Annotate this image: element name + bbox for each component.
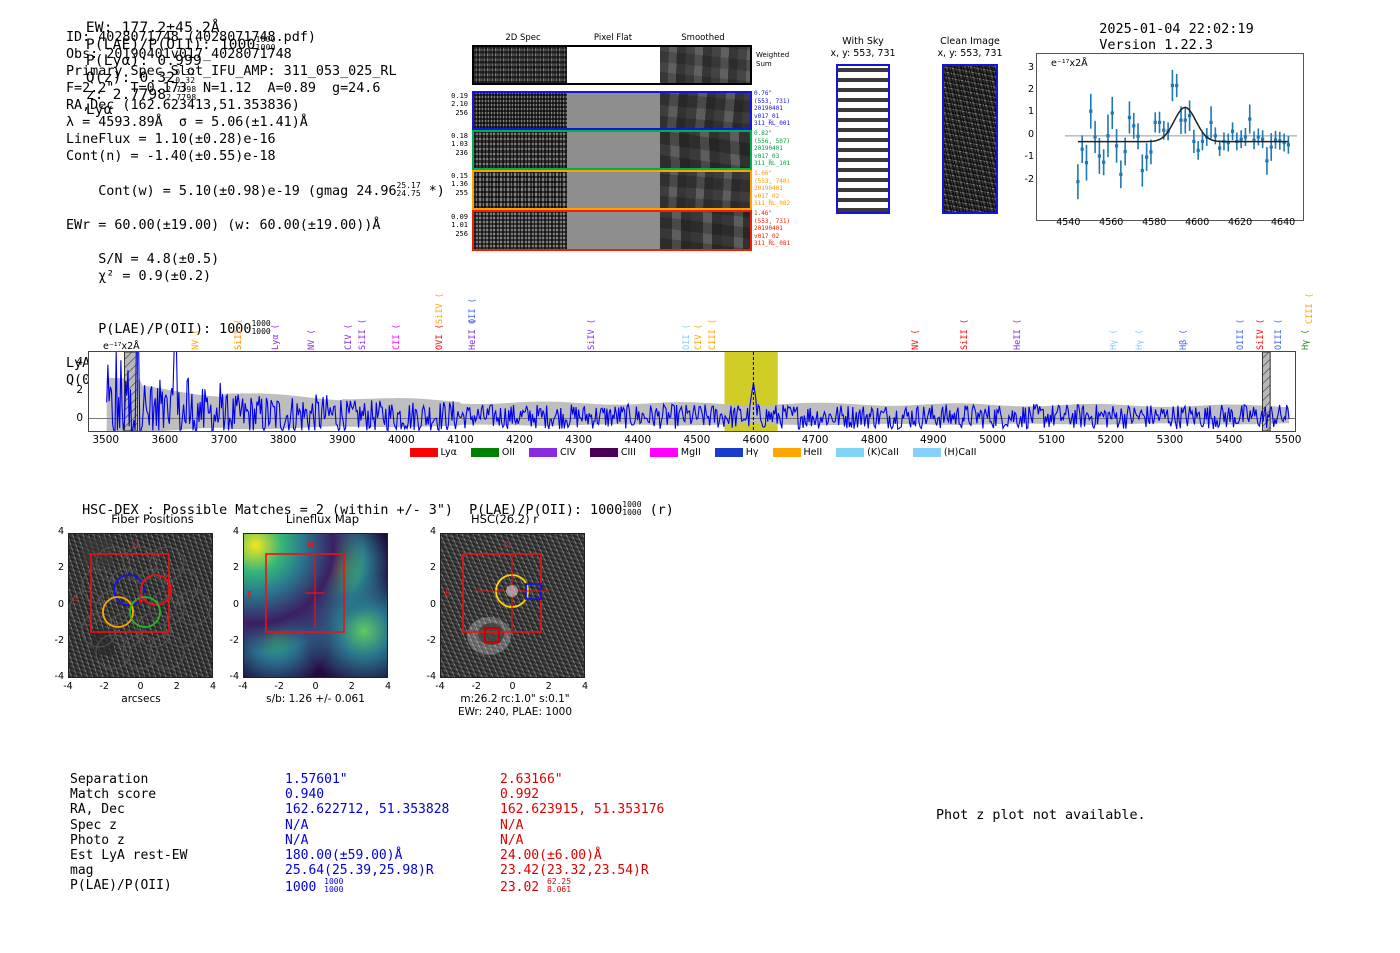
panel-ytick: -4: [42, 671, 64, 682]
panel-xtick: -4: [426, 681, 454, 692]
legend-label: OII: [502, 447, 515, 458]
match-row-label: Est LyA rest-EW: [70, 848, 280, 863]
spectrum-xtick: 4100: [436, 434, 484, 446]
cont-w-text: Cont(w) = 5.10(±0.98)e-19 (gmag 24.96: [98, 184, 396, 199]
panel-xtick: -2: [462, 681, 490, 692]
legend-swatch: [913, 448, 941, 457]
emission-line-label: SiIV (: [435, 278, 445, 324]
spec2d-row-meta: 0.82"(556, 507)20190401v017_03311_RL_101: [754, 130, 800, 168]
panel-ytick: 4: [42, 526, 64, 537]
legend-label: (K)CaII: [867, 447, 899, 458]
emission-line-label: CIII (: [708, 304, 718, 350]
fit-ytick: 0: [1014, 129, 1034, 140]
legend-swatch: [715, 448, 743, 457]
emission-line-label: SiIV (: [1256, 304, 1266, 350]
match2-value: 23.02 62.258.061: [500, 878, 730, 895]
match1-value: 162.622712, 51.353828: [285, 802, 500, 817]
lineflux-map-panel: Lineflux Map: [230, 512, 415, 526]
panel-xtick: -2: [90, 681, 118, 692]
spectrum-xtick: 3900: [318, 434, 366, 446]
spec2d-row-left-values: 0.181.03236: [446, 132, 468, 157]
panel-ytick: -2: [414, 635, 436, 646]
svg-text:E: E: [247, 591, 253, 601]
svg-text:N: N: [132, 541, 139, 551]
hsc-headline-band: (r): [650, 503, 674, 518]
emission-line-label: NV (: [911, 304, 921, 350]
emission-line-label: Hβ (: [1179, 304, 1189, 350]
fit-ytick: 3: [1014, 62, 1034, 73]
legend-label: Hγ: [746, 447, 759, 458]
panel-xtick: 2: [338, 681, 366, 692]
panel-xtick: 2: [535, 681, 563, 692]
spectrum-xtick: 5000: [969, 434, 1017, 446]
info-line: Cont(n) = -1.40(±0.55)e-18: [66, 148, 445, 165]
hsc-plae-frac: 10001000: [622, 501, 641, 517]
panel-xtick: 4: [374, 681, 402, 692]
legend-swatch: [836, 448, 864, 457]
emission-line-label: Hγ (: [1135, 304, 1145, 350]
fit-xtick: 4580: [1136, 217, 1172, 228]
hsc-r-title: HSC(26.2) r: [412, 512, 597, 526]
match1-value: 1000 10001000: [285, 878, 500, 895]
panel-ytick: 2: [217, 562, 239, 573]
emission-line-label: NV (: [307, 304, 317, 350]
with-sky-coords: x, y: 553, 731: [820, 48, 906, 60]
spec2d-col-title: 2D Spec: [482, 33, 564, 43]
panel-ytick: 2: [414, 562, 436, 573]
legend-swatch: [650, 448, 678, 457]
fit-xtick: 4600: [1179, 217, 1215, 228]
spec2d-fiber-row: [472, 170, 752, 210]
spectrum-ytick: 4: [63, 356, 83, 368]
panel-xtick: 2: [163, 681, 191, 692]
lineflux-map-caption: s/b: 1.26 +/- 0.061: [228, 693, 403, 706]
panel-xtick: -4: [229, 681, 257, 692]
spec2d-row-meta: 1.46"(553, 731)20190401v017_02311_RL_081: [754, 210, 800, 248]
hsc-r-caption-2: EWr: 240, PLAE: 1000: [425, 706, 605, 719]
emission-line-label: SiIV (: [587, 304, 597, 350]
spec2d-row-left-values: 0.192.10256: [446, 92, 468, 117]
spectrum-xtick: 4800: [850, 434, 898, 446]
spectrum-xtick: 3600: [141, 434, 189, 446]
emission-line-fit-plot: [1036, 53, 1304, 221]
spectrum-xtick: 5500: [1264, 434, 1312, 446]
legend-label: (H)CaII: [944, 447, 977, 458]
fit-xtick: 4640: [1265, 217, 1301, 228]
match2-value: N/A: [500, 818, 730, 833]
emission-line-label: CII (: [392, 304, 402, 350]
info-line: RA,Dec (162.623413,51.353836): [66, 97, 445, 114]
panel-ytick: 0: [42, 599, 64, 610]
info-cont-w: Cont(w) = 5.10(±0.98)e-19 (gmag 24.9625.…: [66, 165, 445, 217]
panel-ytick: -2: [42, 635, 64, 646]
spectrum-xtick: 4400: [614, 434, 662, 446]
emission-line-label: CIII (: [1305, 278, 1315, 324]
info-ewr: EWr = 60.00(±19.00) (w: 60.00(±19.00))Å: [66, 217, 445, 234]
legend-swatch: [529, 448, 557, 457]
panel-ytick: -2: [217, 635, 239, 646]
emission-line-label: SiII (: [358, 304, 368, 350]
spec2d-fiber-row: [472, 210, 752, 251]
spectrum-ytick: 2: [63, 384, 83, 396]
emission-line-label: NV (: [191, 304, 201, 350]
panel-ytick: 4: [414, 526, 436, 537]
match2-plae-frac: 62.258.061: [547, 878, 571, 894]
fit-plot-yaxis: -2-10123: [1012, 53, 1036, 221]
panel-ytick: 2: [42, 562, 64, 573]
info-line: λ = 4593.89Å σ = 5.06(±1.41)Å: [66, 114, 445, 131]
spectrum-xtick: 5100: [1028, 434, 1076, 446]
match1-value: 1.57601": [285, 772, 500, 787]
hsc-r-overlay: N E: [441, 534, 584, 677]
match2-value: 24.00(±6.00)Å: [500, 848, 730, 863]
panel-ytick: 0: [217, 599, 239, 610]
svg-text:N: N: [504, 541, 511, 551]
legend-swatch: [590, 448, 618, 457]
hsc-r-caption-1: m:26.2 rc:1.0" s:0.1": [425, 693, 605, 706]
spectrum-xtick: 3800: [259, 434, 307, 446]
with-sky-title: With Sky: [820, 36, 906, 48]
timestamp: 2025-01-04 22:02:19: [1099, 21, 1253, 37]
info-line: ID: 4028071748 (4028071748.pdf): [66, 29, 445, 46]
legend-label: Lyα: [441, 447, 457, 458]
match1-value: N/A: [285, 818, 500, 833]
emission-line-label: SiII (: [960, 304, 970, 350]
panel-xtick: 4: [571, 681, 599, 692]
match2-value: 162.623915, 51.353176: [500, 802, 730, 817]
lineflux-overlay: N E: [244, 534, 387, 677]
spectrum-xtick: 5300: [1146, 434, 1194, 446]
match2-value: 2.63166": [500, 772, 730, 787]
info-line: F=2.2" T=0.173 N=1.12 A=0.89 g=24.6: [66, 80, 445, 97]
with-sky-image: [836, 64, 890, 214]
fiber-positions-panel: Fiber Positions: [60, 512, 245, 526]
hsc-r-panel: HSC(26.2) r: [412, 512, 597, 526]
legend-label: CIV: [560, 447, 576, 458]
fiber-overlay: N E: [69, 534, 212, 677]
spec2d-fiber-row: [472, 91, 752, 130]
fit-ytick: 1: [1014, 106, 1034, 117]
panel-xtick: 0: [127, 681, 155, 692]
match1-value: N/A: [285, 833, 500, 848]
spec2d-col-title: Smoothed: [662, 33, 744, 43]
match-row-label: Spec z: [70, 818, 280, 833]
spectrum-xtick: 4000: [377, 434, 425, 446]
clean-image-title: Clean Image: [920, 36, 1020, 48]
fit-xtick: 4540: [1050, 217, 1086, 228]
info-line: LineFlux = 1.10(±0.28)e-16: [66, 131, 445, 148]
clean-image-image: [942, 64, 998, 214]
match1-plae-frac: 10001000: [324, 878, 343, 894]
spectrum-legend: LyαOIICIVCIIIMgIIHγHeII(K)CaII(H)CaII: [0, 447, 1400, 458]
spectrum-xtick: 4600: [732, 434, 780, 446]
fit-xtick: 4560: [1093, 217, 1129, 228]
svg-text:E: E: [72, 597, 78, 607]
legend-swatch: [410, 448, 438, 457]
svg-text:N: N: [307, 541, 314, 551]
full-spectrum-plot: [88, 351, 1296, 432]
spectrum-svg: [89, 352, 1295, 431]
spec2d-row-meta: 0.76"(553, 731)20190401v017_01311_RL_001: [754, 90, 800, 128]
legend-swatch: [471, 448, 499, 457]
fiber-positions-title: Fiber Positions: [60, 512, 245, 526]
match-row-label: P(LAE)/P(OII): [70, 878, 280, 893]
emission-line-label: OIII (: [1236, 304, 1246, 350]
fiber-positions-image: N E: [68, 533, 213, 678]
spectrum-xtick: 4300: [555, 434, 603, 446]
spectrum-xtick: 4500: [673, 434, 721, 446]
lineflux-map-image: N E: [243, 533, 388, 678]
fit-ytick: -1: [1014, 151, 1034, 162]
match1-value: 180.00(±59.00)Å: [285, 848, 500, 863]
spectrum-xtick: 4900: [909, 434, 957, 446]
fit-plot-units: e⁻¹⁷x2Å: [1051, 58, 1088, 69]
panel-xtick: -2: [265, 681, 293, 692]
info-line: Obs: 20190401v017_4028071748: [66, 46, 445, 63]
svg-text:E: E: [445, 589, 451, 599]
fit-plot-xaxis: 454045604580460046204640: [1036, 215, 1304, 231]
emission-line-label: SiII (: [234, 304, 244, 350]
panel-ytick: 0: [414, 599, 436, 610]
cont-w-frac: 25.1724.75: [397, 182, 421, 198]
spectrum-units: e⁻¹⁷x2Å: [103, 341, 140, 352]
spec2d-col-title: Pixel Flat: [572, 33, 654, 43]
spectrum-xtick: 5400: [1205, 434, 1253, 446]
emission-line-label: Hγ (: [1109, 304, 1119, 350]
panel-xtick: -4: [54, 681, 82, 692]
emission-line-label: Lyα (: [271, 304, 281, 350]
weighted-sum-panel: [472, 45, 752, 85]
hsc-r-image: N E: [440, 533, 585, 678]
spectrum-xtick: 3700: [200, 434, 248, 446]
info-line: Primary Spec_Slot_IFU_AMP: 311_053_025_R…: [66, 63, 445, 80]
match2-value: 23.42(23.32,23.54)R: [500, 863, 730, 878]
emission-line-label: CIV (: [344, 304, 354, 350]
match2-value: N/A: [500, 833, 730, 848]
panel-xtick: 4: [199, 681, 227, 692]
spec2d-row-meta: 1.06"(553, 740)20190401v017_02311_RL_082: [754, 170, 800, 208]
spectrum-xtick: 5200: [1087, 434, 1135, 446]
photz-note: Phot z plot not available.: [936, 808, 1146, 823]
lineflux-map-title: Lineflux Map: [230, 512, 415, 526]
emission-line-labels: NV (SiII (Lyα (NV (CIV (SiII (CII (OVI (…: [88, 278, 1298, 352]
fit-ytick: -2: [1014, 174, 1034, 185]
clean-image-coords: x, y: 553, 731: [920, 48, 1020, 60]
cont-w-post: *): [429, 184, 445, 199]
fit-ytick: 2: [1014, 84, 1034, 95]
spectrum-xtick: 4200: [496, 434, 544, 446]
emission-line-label: OII (: [468, 278, 478, 324]
snr-value: S/N = 4.8(±0.5): [98, 252, 219, 267]
legend-label: CIII: [621, 447, 636, 458]
match-row-label: RA, Dec: [70, 802, 280, 817]
with-sky-panel: With Sky x, y: 553, 731: [820, 36, 906, 214]
spectrum-xtick: 3500: [82, 434, 130, 446]
spectrum-ytick: 0: [63, 412, 83, 424]
legend-label: HeII: [804, 447, 823, 458]
panel-xtick: 0: [499, 681, 527, 692]
panel-ytick: -4: [217, 671, 239, 682]
timestamp-version: 2025-01-04 22:02:19 Version 1.22.3: [1083, 5, 1270, 53]
version-label: Version 1.22.3: [1099, 37, 1213, 53]
emission-line-label: HeII (: [1013, 304, 1023, 350]
match1-value: 0.940: [285, 787, 500, 802]
emission-line-label: CIV (: [694, 304, 704, 350]
emission-line-label: OII (: [682, 304, 692, 350]
fiber-positions-caption: arcsecs: [55, 693, 227, 706]
panel-xtick: 0: [302, 681, 330, 692]
fit-xtick: 4620: [1222, 217, 1258, 228]
panel-ytick: 4: [217, 526, 239, 537]
match1-value: 25.64(25.39,25.98)R: [285, 863, 500, 878]
spec2d-fiber-row: [472, 130, 752, 170]
spectrum-yaxis: 024: [62, 351, 86, 432]
legend-label: MgII: [681, 447, 701, 458]
match2-value: 0.992: [500, 787, 730, 802]
weighted-sum-label: Weighted Sum: [756, 51, 789, 68]
clean-image-panel: Clean Image x, y: 553, 731: [920, 36, 1020, 214]
match-row-label: Match score: [70, 787, 280, 802]
emission-line-label: OIII (: [1274, 304, 1284, 350]
spec2d-row-left-values: 0.151.36255: [446, 172, 468, 197]
match-row-label: Photo z: [70, 833, 280, 848]
spec2d-strip: 2D Spec Pixel Flat Smoothed Weighted Sum…: [462, 33, 752, 259]
legend-swatch: [773, 448, 801, 457]
fit-plot-svg: [1037, 54, 1303, 220]
panel-ytick: -4: [414, 671, 436, 682]
spec2d-row-left-values: 0.091.01256: [446, 213, 468, 238]
match-row-label: Separation: [70, 772, 280, 787]
spectrum-xtick: 4700: [791, 434, 839, 446]
match-row-label: mag: [70, 863, 280, 878]
